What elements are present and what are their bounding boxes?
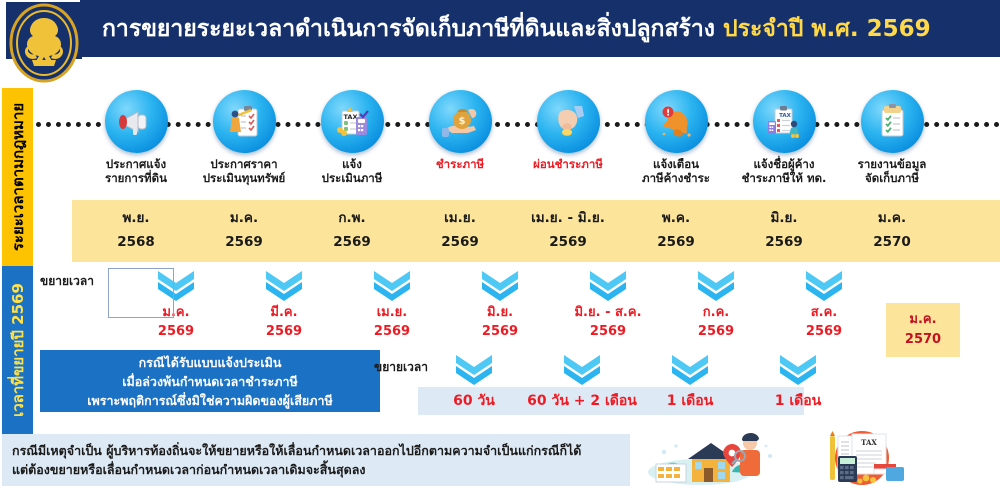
legal-date-3-year: 2569	[296, 230, 408, 254]
timeline-step-8-label: รายงานข้อมูล จัดเก็บภาษี	[836, 157, 948, 185]
legal-date-8-year: 2570	[836, 230, 948, 254]
sidebar-legal-period-label: ระยะเวลาตามกฎหมาย	[6, 103, 30, 251]
extension-date-5-year: 2569	[552, 322, 664, 341]
timeline-step-2-line2: ประเมินทุนทรัพย์	[188, 171, 300, 185]
extension-date-4-year: 2569	[444, 322, 556, 341]
duration-item-4[interactable]	[734, 352, 862, 386]
alert-bell-icon	[645, 90, 708, 153]
extension-row-tag: ขยายเวลา	[40, 272, 94, 291]
extension-final-date-month: ม.ค.	[909, 310, 936, 330]
page-title: การขยายระยะเวลาดำเนินการจัดเก็บภาษีที่ดิ…	[102, 11, 931, 47]
extension-date-3[interactable]: เม.ย. 2569	[336, 268, 448, 341]
legal-date-2-month: ม.ค.	[188, 206, 300, 230]
timeline-step-5[interactable]: ผ่อนชำระภาษี	[512, 90, 624, 171]
report-clipboard-icon	[861, 90, 924, 153]
tax-document-icon: TAX	[753, 90, 816, 153]
timeline-step-1[interactable]: ประกาศแจ้ง รายการที่ดิน	[80, 90, 192, 185]
legal-date-7-year: 2569	[728, 230, 840, 254]
extension-date-3-year: 2569	[336, 322, 448, 341]
timeline-step-2-line1: ประกาศราคา	[188, 157, 300, 171]
extension-date-7-month: ส.ค.	[768, 303, 880, 322]
timeline-step-8-line2: จัดเก็บภาษี	[836, 171, 948, 185]
chevron-down-icon	[802, 268, 846, 302]
timeline-step-2-label: ประกาศราคา ประเมินทุนทรัพย์	[188, 157, 300, 185]
legal-date-4-month: เม.ย.	[404, 206, 516, 230]
duration-item-4-label: 1 เดือน	[734, 390, 862, 412]
legal-date-3: ก.พ. 2569	[296, 206, 408, 254]
clipboard-checklist-icon	[213, 90, 276, 153]
timeline-step-4-label: ชำระภาษี	[404, 157, 516, 171]
legal-date-6-year: 2569	[620, 230, 732, 254]
header-bar: การขยายระยะเวลาดำเนินการจัดเก็บภาษีที่ดิ…	[80, 0, 1000, 57]
timeline-step-1-label: ประกาศแจ้ง รายการที่ดิน	[80, 157, 192, 185]
timeline-step-4-line1: ชำระภาษี	[404, 157, 516, 171]
timeline-step-2[interactable]: ประกาศราคา ประเมินทุนทรัพย์	[188, 90, 300, 185]
extension-date-1-year: 2569	[120, 322, 232, 341]
legal-date-1-month: พ.ย.	[80, 206, 192, 230]
legal-date-3-month: ก.พ.	[296, 206, 408, 230]
selection-highlight-box[interactable]	[108, 268, 174, 318]
chevron-down-icon	[776, 352, 820, 386]
timeline-step-1-line1: ประกาศแจ้ง	[80, 157, 192, 171]
legal-date-4-year: 2569	[404, 230, 516, 254]
timeline-step-3-label: แจ้ง ประเมินภาษี	[296, 157, 408, 185]
chevron-down-icon	[478, 268, 522, 302]
legal-date-8: ม.ค. 2570	[836, 206, 948, 254]
chevron-down-icon	[668, 352, 712, 386]
chevron-down-icon	[452, 352, 496, 386]
extension-date-2-text: มี.ค. 2569	[228, 303, 340, 341]
sidebar-extended-period: เวลาที่ขยายปี 2569	[2, 266, 33, 434]
legal-date-5-year: 2569	[512, 230, 624, 254]
timeline-step-7[interactable]: TAX แจ้งชื่อผู้ค้าง ชำระภาษีให้ ทด.	[728, 90, 840, 185]
timeline-step-3-line2: ประเมินภาษี	[296, 171, 408, 185]
legal-date-1-year: 2568	[80, 230, 192, 254]
extension-date-4-text: มิ.ย. 2569	[444, 303, 556, 341]
footer-note-line-1: กรณีมีเหตุจำเป็น ผู้บริหารท้องถิ่นจะให้ข…	[12, 441, 620, 460]
extension-date-2-month: มี.ค.	[228, 303, 340, 322]
timeline-row: ประกาศแจ้ง รายการที่ดิน ประกาศราคา ประเม…	[36, 90, 1000, 196]
chevron-down-icon	[560, 352, 604, 386]
legal-date-6: พ.ค. 2569	[620, 206, 732, 254]
extension-dates-row: ขยายเวลา ม.ค. 2569 มี.ค. 2569 เม.ย. 2569	[36, 268, 1000, 340]
timeline-step-8-line1: รายงานข้อมูล	[836, 157, 948, 171]
chevron-down-icon	[586, 268, 630, 302]
extension-date-7-text: ส.ค. 2569	[768, 303, 880, 341]
house-inspector-illustration	[640, 430, 790, 486]
extension-date-6-year: 2569	[660, 322, 772, 341]
extension-date-4-month: มิ.ย.	[444, 303, 556, 322]
tax-documents-illustration: TAX	[800, 430, 920, 486]
legal-date-5-month: เม.ย. - มิ.ย.	[512, 206, 624, 230]
extension-duration-row: ขยายเวลา 60 วัน 60 วัน + 2 เดือน 1 เดือน…	[36, 352, 1000, 412]
extension-date-7-year: 2569	[768, 322, 880, 341]
legal-period-band: พ.ย. 2568 ม.ค. 2569 ก.พ. 2569 เม.ย. 2569…	[72, 200, 1000, 262]
money-bag-hand-icon: $	[429, 90, 492, 153]
timeline-step-5-label: ผ่อนชำระภาษี	[512, 157, 624, 171]
timeline-step-5-line1: ผ่อนชำระภาษี	[512, 157, 624, 171]
coin-insert-hand-icon	[537, 90, 600, 153]
timeline-step-7-line1: แจ้งชื่อผู้ค้าง	[728, 157, 840, 171]
legal-date-5: เม.ย. - มิ.ย. 2569	[512, 206, 624, 254]
timeline-step-8[interactable]: รายงานข้อมูล จัดเก็บภาษี	[836, 90, 948, 185]
svg-text:TAX: TAX	[861, 438, 877, 447]
timeline-step-1-line2: รายการที่ดิน	[80, 171, 192, 185]
timeline-step-6[interactable]: แจ้งเตือน ภาษีค้างชำระ	[620, 90, 732, 185]
extension-date-2-year: 2569	[228, 322, 340, 341]
extension-date-5[interactable]: มิ.ย. - ส.ค. 2569	[552, 268, 664, 341]
extension-date-3-month: เม.ย.	[336, 303, 448, 322]
legal-date-1: พ.ย. 2568	[80, 206, 192, 254]
legal-date-2: ม.ค. 2569	[188, 206, 300, 254]
timeline-step-6-line2: ภาษีค้างชำระ	[620, 171, 732, 185]
svg-text:TAX: TAX	[779, 113, 792, 119]
timeline-step-3[interactable]: TAX แจ้ง ประเมินภาษี	[296, 90, 408, 185]
megaphone-icon	[105, 90, 168, 153]
legal-date-7-month: มิ.ย.	[728, 206, 840, 230]
timeline-step-4[interactable]: $ ชำระภาษี	[404, 90, 516, 171]
extension-final-date-year: 2570	[905, 330, 941, 350]
extension-date-6-text: ก.ค. 2569	[660, 303, 772, 341]
timeline-step-7-label: แจ้งชื่อผู้ค้าง ชำระภาษีให้ ทด.	[728, 157, 840, 185]
timeline-step-6-label: แจ้งเตือน ภาษีค้างชำระ	[620, 157, 732, 185]
legal-date-7: มิ.ย. 2569	[728, 206, 840, 254]
footer-note-box: กรณีมีเหตุจำเป็น ผู้บริหารท้องถิ่นจะให้ข…	[2, 434, 630, 486]
timeline-step-7-line2: ชำระภาษีให้ ทด.	[728, 171, 840, 185]
svg-text:$: $	[459, 116, 466, 127]
chevron-down-icon	[262, 268, 306, 302]
sidebar-legal-period: ระยะเวลาตามกฎหมาย	[2, 88, 33, 266]
tax-calculator-icon: TAX	[321, 90, 384, 153]
extension-date-5-text: มิ.ย. - ส.ค. 2569	[552, 303, 664, 341]
extension-final-date-box: ม.ค. 2570	[886, 303, 960, 357]
svg-text:TAX: TAX	[344, 113, 358, 121]
extension-date-7[interactable]: ส.ค. 2569	[768, 268, 880, 341]
legal-date-4: เม.ย. 2569	[404, 206, 516, 254]
footer-note-line-2: แต่ต้องขยายหรือเลื่อนกำหนดเวลาก่อนกำหนดเ…	[12, 460, 620, 479]
legal-date-2-year: 2569	[188, 230, 300, 254]
extension-date-6-month: ก.ค.	[660, 303, 772, 322]
page-title-main: การขยายระยะเวลาดำเนินการจัดเก็บภาษีที่ดิ…	[102, 16, 715, 42]
garuda-seal-logo	[6, 2, 82, 84]
sidebar-extended-period-label: เวลาที่ขยายปี 2569	[6, 283, 30, 417]
extension-date-6[interactable]: ก.ค. 2569	[660, 268, 772, 341]
chevron-down-icon	[370, 268, 414, 302]
extension-date-5-month: มิ.ย. - ส.ค.	[552, 303, 664, 322]
extension-date-3-text: เม.ย. 2569	[336, 303, 448, 341]
chevron-down-icon	[694, 268, 738, 302]
page-title-year: ประจำปี พ.ศ. 2569	[723, 16, 931, 42]
legal-date-8-month: ม.ค.	[836, 206, 948, 230]
legal-date-6-month: พ.ค.	[620, 206, 732, 230]
extension-date-2[interactable]: มี.ค. 2569	[228, 268, 340, 341]
extension-date-4[interactable]: มิ.ย. 2569	[444, 268, 556, 341]
timeline-step-3-line1: แจ้ง	[296, 157, 408, 171]
timeline-step-6-line1: แจ้งเตือน	[620, 157, 732, 171]
